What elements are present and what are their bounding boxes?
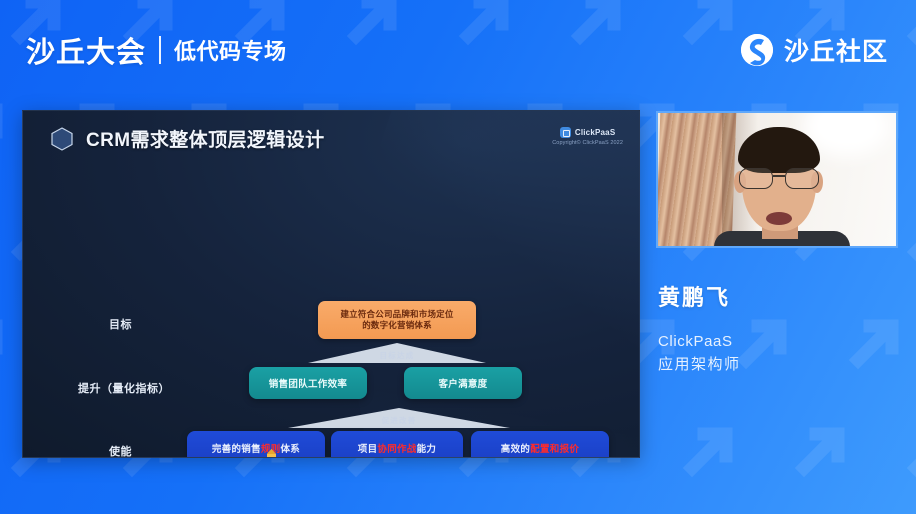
vendor-name: ClickPaaS <box>575 128 616 137</box>
arrow-up-right-icon <box>672 412 746 486</box>
speaker-info: 黄鹏飞 ClickPaaS 应用架构师 <box>658 280 741 377</box>
vendor-logo-block: ClickPaaS Copyright© ClickPaaS 2022 <box>552 127 623 146</box>
vertical-divider-icon <box>159 36 161 64</box>
stream-stage: 沙丘大会 低代码专场 沙丘社区 CRM需求整体顶层逻 <box>0 0 916 514</box>
enable-box-label: 完善的销售规则体系 <box>212 441 300 455</box>
connector-label: 目标达成 <box>380 350 415 363</box>
community-logo-text: 沙丘社区 <box>784 32 888 68</box>
lens-left <box>739 168 773 189</box>
community-logo: 沙丘社区 <box>740 32 888 68</box>
speaker-name: 黄鹏飞 <box>658 280 741 312</box>
vendor-copyright: Copyright© ClickPaaS 2022 <box>552 140 623 146</box>
row-label-goal: 目标 <box>109 316 132 332</box>
eyeglasses-icon <box>736 168 824 190</box>
sandhill-s-logo-icon <box>740 33 774 67</box>
event-brand: 沙丘大会 低代码专场 <box>26 29 287 71</box>
clickpaas-square-icon <box>560 127 571 138</box>
row-label-metrics: 提升（量化指标） <box>78 380 170 396</box>
enable-box-collaboration[interactable]: 项目协同作战能力 <box>331 431 463 458</box>
enable-box-label: 高效的配置和报价 <box>501 441 579 455</box>
speaker-role: 应用架构师 <box>658 353 741 376</box>
event-title: 沙丘大会 <box>26 29 146 71</box>
arrow-up-right-icon <box>896 412 916 486</box>
slide-header: CRM需求整体顶层逻辑设计 <box>49 125 324 152</box>
arrow-up-right-icon <box>838 304 912 378</box>
connector-promote-improve: 促进改善 <box>288 408 510 428</box>
speaker-company: ClickPaaS <box>658 330 741 353</box>
lens-right <box>785 168 819 189</box>
metric-box-label: 销售团队工作效率 <box>269 376 347 390</box>
enable-box-config-quote[interactable]: 高效的配置和报价 <box>471 431 609 458</box>
presenter-mouth <box>766 212 792 225</box>
metric-box-sales-efficiency[interactable]: 销售团队工作效率 <box>249 367 367 399</box>
enable-box-label: 项目协同作战能力 <box>358 441 436 455</box>
row-label-enable: 使能 <box>109 443 132 458</box>
slide-title: CRM需求整体顶层逻辑设计 <box>86 125 324 152</box>
webcam-video-feed[interactable] <box>656 111 898 248</box>
header-bar: 沙丘大会 低代码专场 沙丘社区 <box>0 0 916 100</box>
arrow-up-right-icon <box>0 304 16 378</box>
presentation-slide[interactable]: CRM需求整体顶层逻辑设计 ClickPaaS Copyright© Click… <box>22 110 640 458</box>
enable-box-sales-rules[interactable]: 完善的销售规则体系 <box>187 431 325 458</box>
connector-goal-achieved: 目标达成 <box>308 343 486 363</box>
goal-line-1: 建立符合公司品牌和市场定位 <box>340 309 453 320</box>
lens-bridge <box>773 175 785 177</box>
event-subtitle: 低代码专场 <box>174 34 287 66</box>
pencil-cursor-icon <box>263 449 280 458</box>
metric-box-label: 客户满意度 <box>438 376 487 390</box>
hexagon-icon <box>49 126 75 152</box>
metric-box-customer-satisfaction[interactable]: 客户满意度 <box>404 367 522 399</box>
goal-box[interactable]: 建立符合公司品牌和市场定位 的数字化营销体系 <box>318 301 476 339</box>
arrow-up-right-icon <box>896 196 916 270</box>
goal-line-2: 的数字化营销体系 <box>362 320 432 331</box>
arrow-up-right-icon <box>784 412 858 486</box>
connector-label: 促进改善 <box>382 415 417 428</box>
